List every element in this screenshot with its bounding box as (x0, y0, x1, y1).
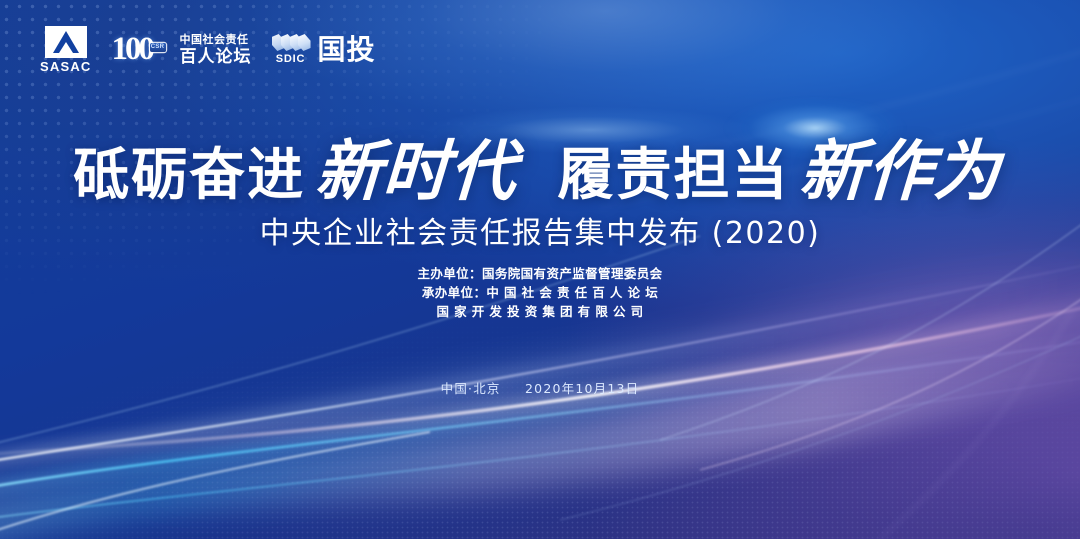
sdic-mark-group: SDIC (272, 34, 310, 65)
headline-part-3: 履责担当 (557, 130, 789, 211)
logo-sasac[interactable]: SASAC (40, 26, 92, 73)
headline-part-2: 新时代 (313, 118, 519, 214)
logo-sdic[interactable]: SDIC 国投 (272, 34, 376, 65)
poster-canvas: SASAC 100 CSR 中国社会责任 百人论坛 SDIC 国投 (0, 0, 1080, 539)
poster-subtitle: 中央企业社会责任报告集中发布 (2020) (0, 208, 1080, 252)
sdic-chinese-name: 国投 (318, 36, 376, 64)
organizer-co-host-label: 承办单位： (422, 285, 487, 300)
organizer-host-label: 主办单位： (417, 266, 482, 281)
headline-part-1: 砥砺奋进 (73, 130, 305, 211)
logo-bar: SASAC 100 CSR 中国社会责任 百人论坛 SDIC 国投 (40, 26, 376, 73)
event-info-bar: 中国·北京 2020年10月13日 (0, 378, 1080, 397)
event-date: 2020年10月13日 (525, 381, 639, 396)
headline-part-4: 新作为 (797, 118, 1003, 214)
csr-100-mark: 100 CSR (112, 32, 172, 68)
organizer-host-value: 国务院国有资产监督管理委员会 (482, 266, 663, 281)
organizer-co-host-value: 中 国 社 会 责 任 百 人 论 坛 (486, 285, 658, 300)
poster-headline: 砥砺奋进 新时代 履责担当 新作为 (0, 118, 1080, 214)
csr-100-digits: 100 (112, 33, 153, 66)
organizer-block: 主办单位：国务院国有资产监督管理委员会 承办单位：中 国 社 会 责 任 百 人… (0, 264, 1080, 321)
csr-line-1: 中国社会责任 (180, 35, 252, 46)
organizer-row-co-host-2: 国 家 开 发 投 资 集 团 有 限 公 司 (0, 302, 1080, 321)
csr-line-2: 百人论坛 (180, 48, 252, 65)
chevron-diamond-icon (272, 34, 310, 51)
organizer-row-co-host: 承办单位：中 国 社 会 责 任 百 人 论 坛 (0, 283, 1080, 302)
event-location: 中国·北京 (441, 381, 501, 396)
sdic-wordmark: SDIC (276, 54, 305, 65)
triangle-mountain-icon (45, 26, 87, 58)
csr-badge: CSR (150, 43, 166, 52)
logo-csr-100-forum[interactable]: 100 CSR 中国社会责任 百人论坛 (112, 32, 252, 68)
sasac-wordmark: SASAC (40, 60, 92, 73)
organizer-co-host-2-value: 国 家 开 发 投 资 集 团 有 限 公 司 (436, 304, 643, 319)
csr-wordmark: 中国社会责任 百人论坛 (180, 35, 252, 65)
organizer-row-host: 主办单位：国务院国有资产监督管理委员会 (0, 264, 1080, 283)
